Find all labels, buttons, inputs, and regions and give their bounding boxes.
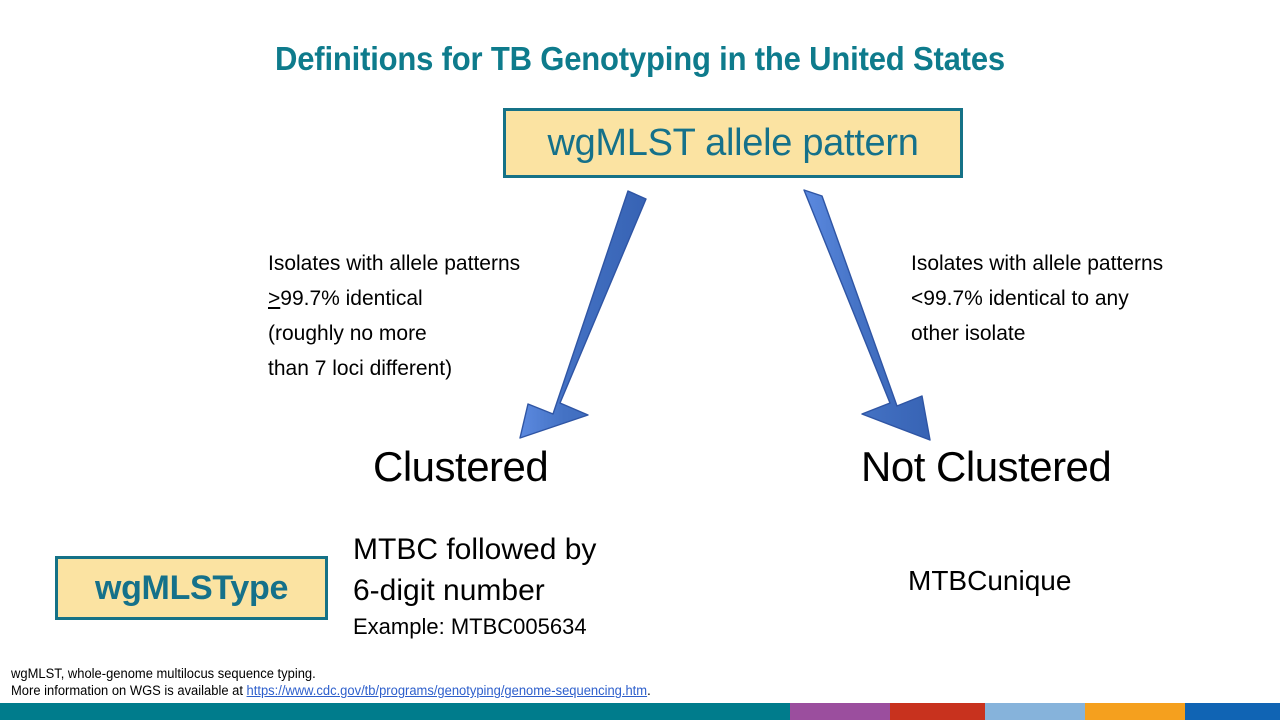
clustered-naming-convention: MTBC followed by 6-digit number Example:… <box>353 529 596 642</box>
right-criteria-line-2: <99.7% identical to any <box>911 281 1163 316</box>
accent-bar-segment-light-blue <box>985 703 1085 720</box>
footnote-line-2-prefix: More information on WGS is available at <box>11 683 247 698</box>
footnote-line-1: wgMLST, whole-genome multilocus sequence… <box>11 665 651 682</box>
clustered-branch-arrow <box>520 191 646 438</box>
accent-bar-segment-purple <box>790 703 890 720</box>
footnote: wgMLST, whole-genome multilocus sequence… <box>11 665 651 699</box>
clustered-outcome-label: Clustered <box>373 443 548 491</box>
not-clustered-naming-convention: MTBCunique <box>908 565 1071 597</box>
left-criteria-line-2: >99.7% identical <box>268 281 520 316</box>
footnote-line-2-suffix: . <box>647 683 651 698</box>
genome-sequencing-link[interactable]: https://www.cdc.gov/tb/programs/genotypi… <box>247 683 648 698</box>
wgmlstype-label: wgMLSType <box>95 569 288 608</box>
accent-bar-segment-teal <box>0 703 790 720</box>
slide-canvas: Definitions for TB Genotyping in the Uni… <box>0 0 1280 720</box>
accent-bar-segment-red <box>890 703 985 720</box>
wgmlst-allele-pattern-box: wgMLST allele pattern <box>503 108 963 178</box>
footnote-line-2: More information on WGS is available at … <box>11 682 651 699</box>
mtbc-naming-line-1: MTBC followed by <box>353 529 596 570</box>
greater-than-or-equal-symbol: > <box>268 287 280 310</box>
not-clustered-outcome-label: Not Clustered <box>861 443 1111 491</box>
left-criteria-line-4: than 7 loci different) <box>268 351 520 386</box>
wgmlstype-box: wgMLSType <box>55 556 328 620</box>
right-criteria-line-1: Isolates with allele patterns <box>911 246 1163 281</box>
accent-bar-segment-orange <box>1085 703 1185 720</box>
wgmlst-allele-pattern-label: wgMLST allele pattern <box>547 122 918 165</box>
accent-bar-segment-dark-blue <box>1185 703 1280 720</box>
left-criteria-line-2-rest: 99.7% identical <box>280 287 422 310</box>
right-criteria-line-3: other isolate <box>911 316 1163 351</box>
left-criteria-line-3: (roughly no more <box>268 316 520 351</box>
page-title: Definitions for TB Genotyping in the Uni… <box>38 40 1241 78</box>
mtbc-naming-line-2: 6-digit number <box>353 570 596 611</box>
left-branch-criteria: Isolates with allele patterns >99.7% ide… <box>268 246 520 386</box>
mtbc-naming-example: Example: MTBC005634 <box>353 612 596 642</box>
left-criteria-line-1: Isolates with allele patterns <box>268 246 520 281</box>
right-branch-criteria: Isolates with allele patterns <99.7% ide… <box>911 246 1163 351</box>
bottom-accent-bar <box>0 703 1280 720</box>
